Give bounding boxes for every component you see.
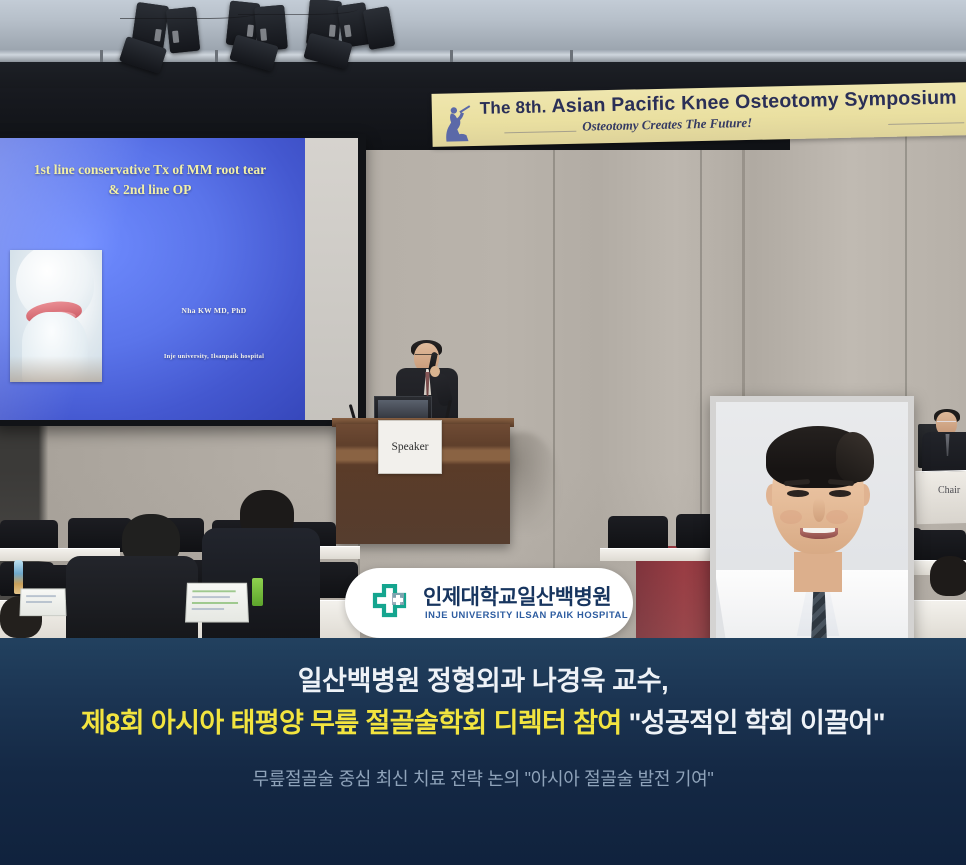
headline-highlight: 제8회 아시아 태평양 무릎 절골술학회 디렉터 참여 — [81, 708, 629, 738]
slide-title-line1: 1st line conservative Tx of MM root tear — [34, 162, 266, 177]
person-body — [66, 556, 198, 640]
projection-screen: 1st line conservative Tx of MM root tear… — [0, 134, 366, 426]
hair-side — [836, 432, 874, 482]
rail-tick — [450, 50, 453, 62]
speaker-sign: Speaker — [378, 420, 442, 474]
neck — [794, 552, 842, 592]
speaker-sign-label: Speaker — [391, 441, 428, 453]
slide-title: 1st line conservative Tx of MM root tear… — [0, 160, 300, 199]
slide-author: Nha KW MD, PhD — [134, 306, 294, 315]
rail-tick — [100, 50, 103, 62]
nose — [813, 498, 825, 522]
conference-photo: 1st line conservative Tx of MM root tear… — [0, 0, 966, 640]
speaker-hand — [430, 366, 440, 377]
headline-line-2: 제8회 아시아 태평양 무릎 절골술학회 디렉터 참여 "성공적인 학회 이끌어… — [81, 707, 885, 739]
headline-quote: "성공적인 학회 이끌어" — [629, 708, 885, 738]
presentation-slide: 1st line conservative Tx of MM root tear… — [0, 138, 305, 420]
hospital-name-english: INJE UNIVERSITY ILSAN PAIK HOSPITAL — [425, 609, 628, 620]
hospital-name-korean: 인제대학교일산백병원 — [423, 581, 611, 611]
rail-tick — [215, 50, 218, 62]
subheadline: 무릎절골술 중심 최신 치료 전략 논의 "아시아 절골술 발전 기여" — [253, 765, 714, 791]
portrait-frame — [710, 396, 914, 640]
green-bottle — [252, 578, 263, 606]
knee-joint-figure — [10, 250, 102, 382]
caption-band: 일산백병원 정형외과 나경욱 교수, 제8회 아시아 태평양 무릎 절골술학회 … — [0, 638, 966, 865]
headline-line-1: 일산백병원 정형외과 나경욱 교수, — [298, 666, 669, 697]
cheek — [826, 510, 848, 524]
news-article-image: 1st line conservative Tx of MM root tear… — [0, 0, 966, 865]
slide-title-line2: & 2nd line OP — [109, 182, 192, 197]
statue-emblem-icon — [440, 103, 475, 144]
audience-laptop — [185, 583, 249, 623]
cheek — [780, 510, 802, 524]
slide-affiliation: Inje university, Ilsanpaik hospital — [124, 353, 304, 360]
hospital-logo: 인제대학교일산백병원 INJE UNIVERSITY ILSAN PAIK HO… — [345, 568, 633, 638]
banner-title-prefix: The 8th. — [480, 97, 547, 117]
eye — [829, 490, 851, 497]
medical-cross-icon — [371, 584, 411, 622]
person-head — [930, 556, 966, 596]
chair-seat — [608, 516, 668, 550]
rail-tick — [570, 50, 573, 62]
cable — [238, 0, 358, 15]
mouth — [800, 528, 838, 539]
audience-paper — [19, 588, 66, 616]
eyeglasses — [937, 421, 956, 426]
banner-rule — [504, 131, 576, 134]
eye — [787, 490, 809, 497]
doctor-portrait — [716, 402, 908, 640]
